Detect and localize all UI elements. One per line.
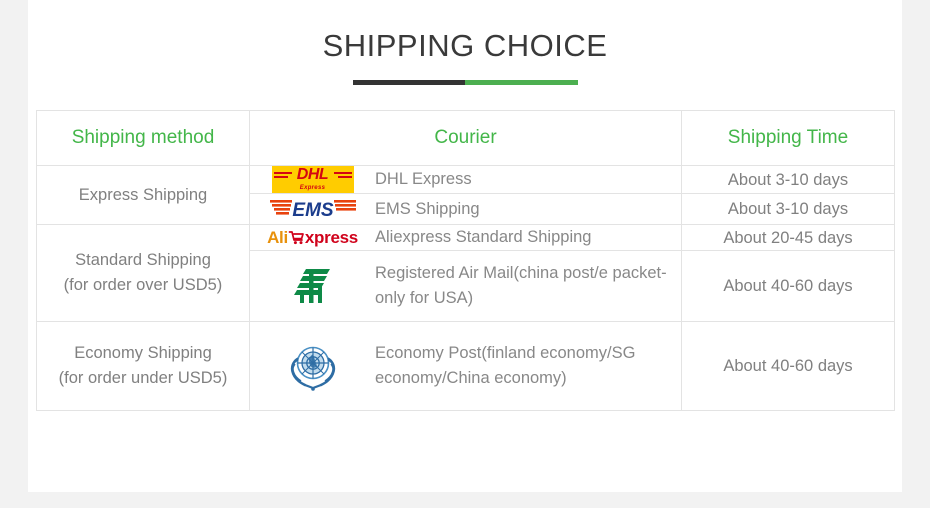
shipping-time-cell: About 3-10 days: [682, 166, 895, 194]
dhl-logo-subtext: Express: [272, 185, 354, 192]
shipping-time-cell: About 20-45 days: [682, 225, 895, 251]
aliexpress-logo-text: Ali: [267, 228, 288, 248]
dhl-logo-text: DHL: [272, 166, 354, 183]
dhl-logo: DHL Express: [272, 166, 354, 193]
title-underline-green-segment: [465, 80, 578, 85]
courier-cell-aliexpress: Ali xpress Aliexpress Standard Shi: [250, 225, 682, 251]
china-post-logo: [292, 265, 334, 307]
shipping-method-note: (for order under USD5): [37, 366, 249, 391]
courier-cell-ems: EMS EMS Shipping: [250, 194, 682, 225]
courier-cell-economy-post: Economy Post(finland economy/SG economy/…: [250, 322, 682, 411]
courier-name: EMS Shipping: [375, 197, 490, 222]
courier-name: DHL Express: [375, 167, 482, 192]
un-logo: [285, 338, 341, 394]
logo-slot: [250, 338, 375, 394]
page-title: SHIPPING CHOICE: [28, 26, 902, 66]
aliexpress-logo-subtext: xpress: [305, 228, 358, 248]
logo-slot: [250, 265, 375, 307]
shipping-method-cell-express: Express Shipping: [37, 166, 250, 225]
shipping-method-label: Economy Shipping: [37, 341, 249, 366]
aliexpress-logo: Ali xpress: [267, 228, 358, 248]
table-row: Standard Shipping (for order over USD5) …: [37, 225, 895, 251]
courier-cell-china-post: Registered Air Mail(china post/e packet-…: [250, 251, 682, 322]
shipping-time-cell: About 3-10 days: [682, 194, 895, 225]
shipping-method-cell-economy: Economy Shipping (for order under USD5): [37, 322, 250, 411]
table-body: Express Shipping DHL Express: [37, 166, 895, 411]
column-header-courier: Courier: [250, 111, 682, 166]
table-header: Shipping method Courier Shipping Time: [37, 111, 895, 166]
column-header-shipping-time: Shipping Time: [682, 111, 895, 166]
title-underline: [353, 80, 578, 85]
shopping-cart-icon: [288, 229, 305, 246]
shipping-method-label: Standard Shipping: [37, 248, 249, 273]
table-header-row: Shipping method Courier Shipping Time: [37, 111, 895, 166]
courier-name: Economy Post(finland economy/SG economy/…: [375, 341, 681, 391]
shipping-time-cell: About 40-60 days: [682, 251, 895, 322]
content-card: SHIPPING CHOICE Shipping method Courier …: [28, 0, 902, 492]
table-row: Economy Shipping (for order under USD5): [37, 322, 895, 411]
shipping-table: Shipping method Courier Shipping Time Ex…: [36, 110, 895, 411]
table-row: Express Shipping DHL Express: [37, 166, 895, 194]
svg-text:EMS: EMS: [292, 200, 334, 221]
title-underline-dark-segment: [353, 80, 466, 85]
logo-slot: EMS: [250, 194, 375, 224]
courier-cell-dhl: DHL Express DHL Express: [250, 166, 682, 194]
courier-name: Aliexpress Standard Shipping: [375, 225, 601, 250]
title-block: SHIPPING CHOICE: [28, 0, 902, 85]
shipping-method-cell-standard: Standard Shipping (for order over USD5): [37, 225, 250, 322]
courier-name: Registered Air Mail(china post/e packet-…: [375, 261, 681, 311]
logo-slot: Ali xpress: [250, 228, 375, 248]
logo-slot: DHL Express: [250, 166, 375, 193]
column-header-shipping-method: Shipping method: [37, 111, 250, 166]
shipping-method-label: Express Shipping: [37, 183, 249, 208]
shipping-time-cell: About 40-60 days: [682, 322, 895, 411]
shipping-method-note: (for order over USD5): [37, 273, 249, 298]
ems-logo: EMS: [269, 194, 357, 224]
